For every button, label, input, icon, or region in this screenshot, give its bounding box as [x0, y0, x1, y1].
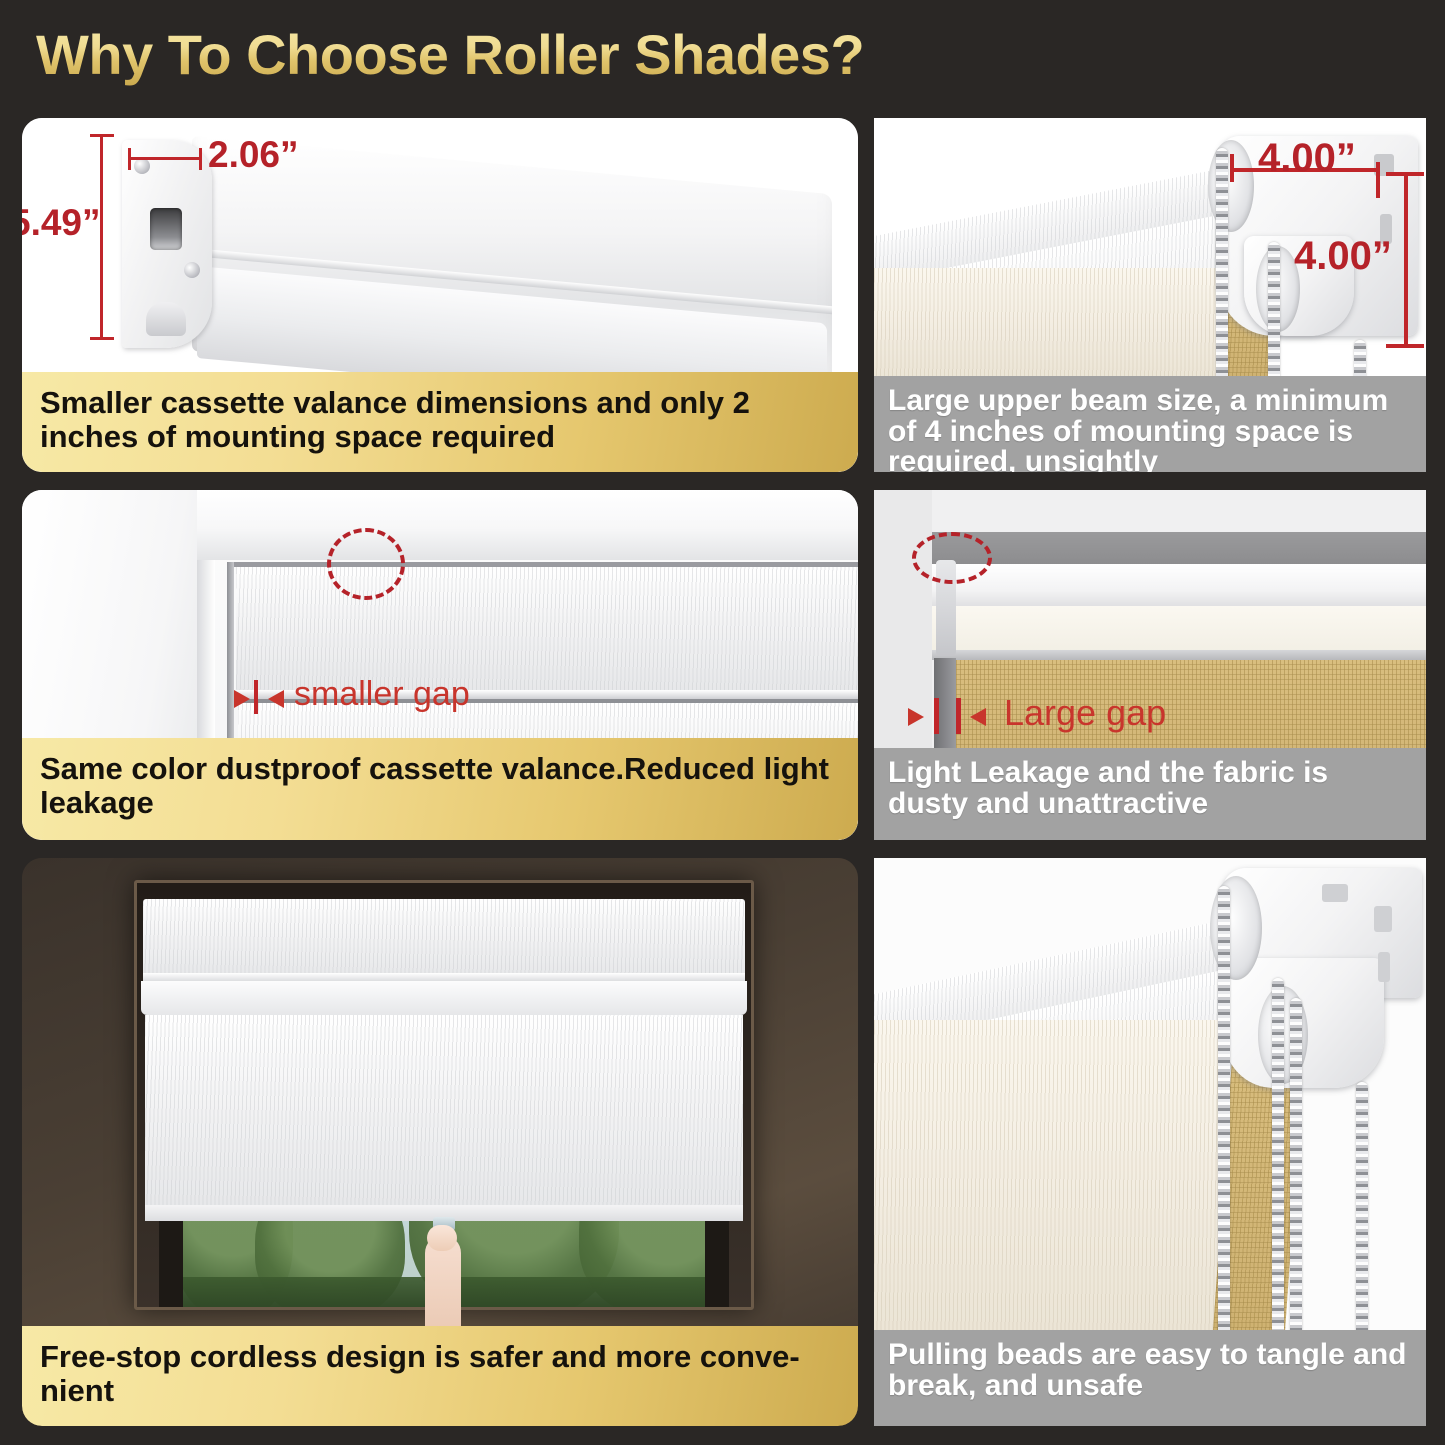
infographic-root: Why To Choose Roller Shades? 5.49” 2.06”	[0, 0, 1445, 1445]
width-dimension-line	[128, 157, 202, 160]
width-dimension-label: 4.00”	[1258, 136, 1356, 181]
gap-arrow-left	[908, 708, 924, 726]
panel-caption: Free-stop cordless design is safer and m…	[22, 1326, 858, 1426]
bead-chain	[1218, 886, 1230, 1376]
height-dimension-label: 4.00”	[1294, 234, 1392, 279]
shade-fabric	[145, 1015, 743, 1211]
panel-caption: Large upper beam size, a minimum of 4 in…	[874, 376, 1426, 472]
window-frame	[134, 880, 754, 1310]
shade-valance	[143, 899, 745, 979]
endcap-pin	[146, 302, 186, 336]
height-dimension-line	[1404, 172, 1408, 348]
bead-chain	[1216, 148, 1228, 388]
bead-chain	[1290, 998, 1302, 1376]
panel-caption: Smaller cassette valance dimensions and …	[22, 372, 858, 472]
panel-cordless-design: Free-stop cordless design is safer and m…	[22, 858, 858, 1426]
panel-caption: Pulling beads are easy to tangle and bre…	[874, 1330, 1426, 1426]
panel-caption: Light Leakage and the fabric is dusty an…	[874, 748, 1426, 840]
panel-caption: Same color dustproof cassette valance.Re…	[22, 738, 858, 840]
height-dimension-label: 5.49”	[22, 202, 96, 244]
page-title: Why To Choose Roller Shades?	[36, 22, 864, 87]
gap-label: smaller gap	[294, 675, 470, 714]
valance-endcap	[122, 140, 212, 348]
gap-label: Large gap	[1004, 692, 1166, 734]
panel-dustproof-cassette: smaller gap Same color dustproof cassett…	[22, 490, 858, 840]
gap-highlight-circle	[912, 532, 992, 584]
width-dimension-label: 2.06”	[208, 134, 299, 176]
bead-chain	[1272, 978, 1284, 1376]
gap-arrow-right	[268, 690, 284, 708]
endcap-slot	[150, 208, 182, 250]
gap-highlight-circle	[327, 528, 405, 600]
gap-arrow-right	[970, 708, 986, 726]
bead-chain	[1268, 242, 1280, 392]
panel-large-upper-beam: 4.00” 4.00” Large upper beam size, a min…	[874, 118, 1426, 472]
panel-cassette-valance-dimensions: 5.49” 2.06” Smaller cassette valance dim…	[22, 118, 858, 472]
gap-arrow-left	[234, 690, 250, 708]
panel-light-leakage: Large gap Light Leakage and the fabric i…	[874, 490, 1426, 840]
panel-pulling-beads: Pulling beads are easy to tangle and bre…	[874, 858, 1426, 1426]
